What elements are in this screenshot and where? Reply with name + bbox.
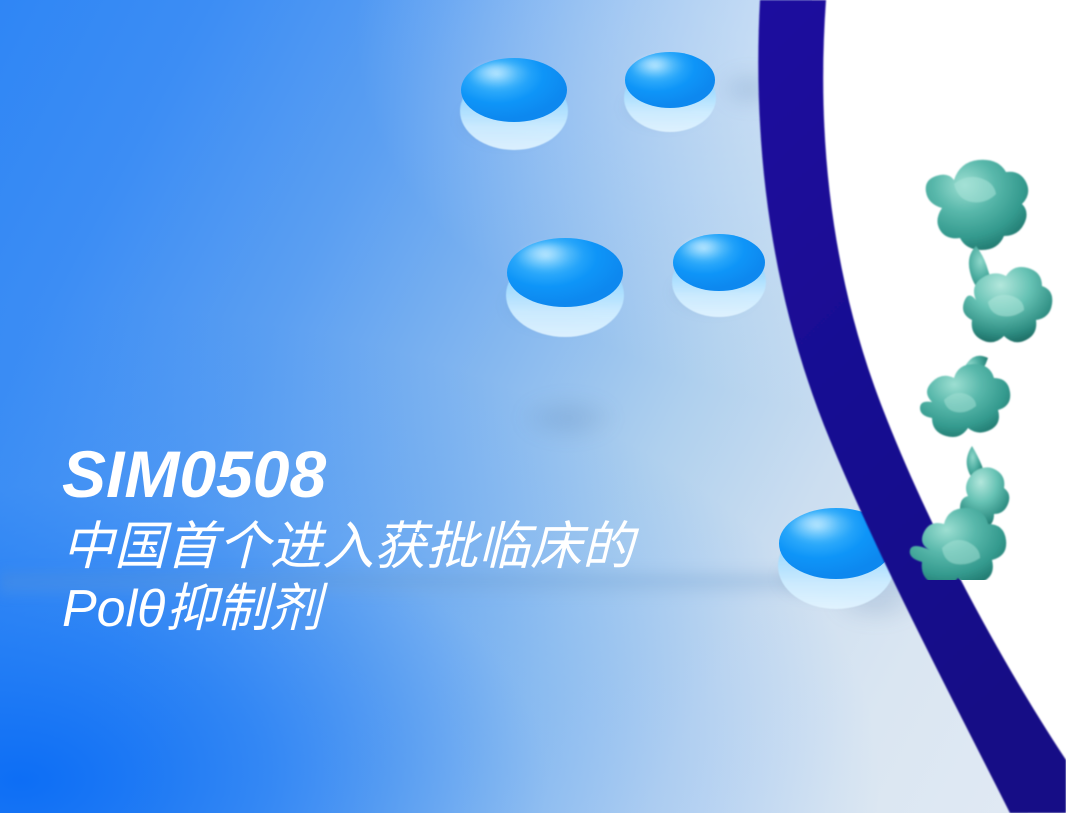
poster-tagline: 中国首个进入获批临床的 Polθ抑制剂 — [62, 516, 842, 640]
poster-text-block: SIM0508 中国首个进入获批临床的 Polθ抑制剂 — [62, 436, 842, 640]
tablet-2 — [624, 52, 716, 120]
tablet-gloss — [633, 56, 685, 79]
tablet-1 — [460, 58, 568, 136]
tablet-gloss — [518, 243, 584, 272]
tablet-gloss — [681, 238, 734, 262]
ghost-shadow-top-right — [712, 66, 786, 112]
poster-canvas: SIM0508 中国首个进入获批临床的 Polθ抑制剂 — [0, 0, 1066, 813]
page-title: SIM0508 — [62, 436, 842, 512]
tablet-gloss — [471, 63, 531, 90]
tablet-3 — [506, 238, 624, 322]
tagline-line-2: Polθ抑制剂 — [62, 578, 842, 640]
tablet-4 — [672, 234, 766, 304]
tagline-line-1: 中国首个进入获批临床的 — [62, 518, 634, 576]
